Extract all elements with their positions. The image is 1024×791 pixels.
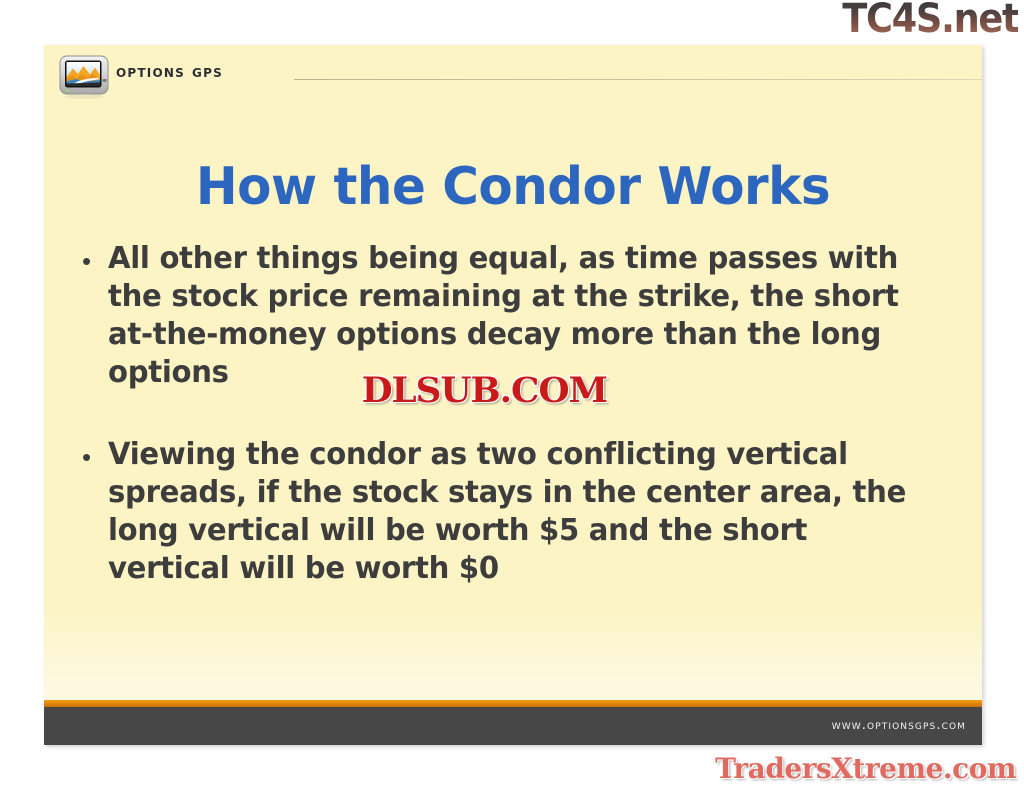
list-item: • Viewing the condor as two conflicting …	[82, 436, 952, 588]
header-divider	[294, 79, 982, 80]
slide-logo-text: Options GPS	[116, 62, 223, 82]
footer-bar: www.OptionsGPS.com	[44, 707, 982, 745]
gps-device-icon	[58, 53, 110, 99]
bullet-list: • All other things being equal, as time …	[82, 240, 952, 632]
footer-url-text: www.OptionsGPS.com	[832, 718, 966, 733]
tradersxtreme-watermark: TradersXtreme.com	[715, 752, 1016, 785]
bullet-text-2: Viewing the condor as two conflicting ve…	[108, 436, 927, 588]
footer-orange-stripe	[44, 700, 982, 707]
slide-header: Options GPS	[44, 45, 982, 101]
bullet-marker-icon: •	[82, 240, 108, 266]
bullet-marker-icon: •	[82, 436, 108, 462]
page-title: How the Condor Works	[63, 158, 963, 216]
tc4s-logo: TC4S.net	[842, 0, 1018, 40]
presentation-slide: Options GPS How the Condor Works • All o…	[44, 45, 982, 745]
dlsub-watermark-text: DLSUB.COM	[362, 370, 607, 411]
dlsub-watermark: DLSUB.COM	[362, 370, 607, 411]
